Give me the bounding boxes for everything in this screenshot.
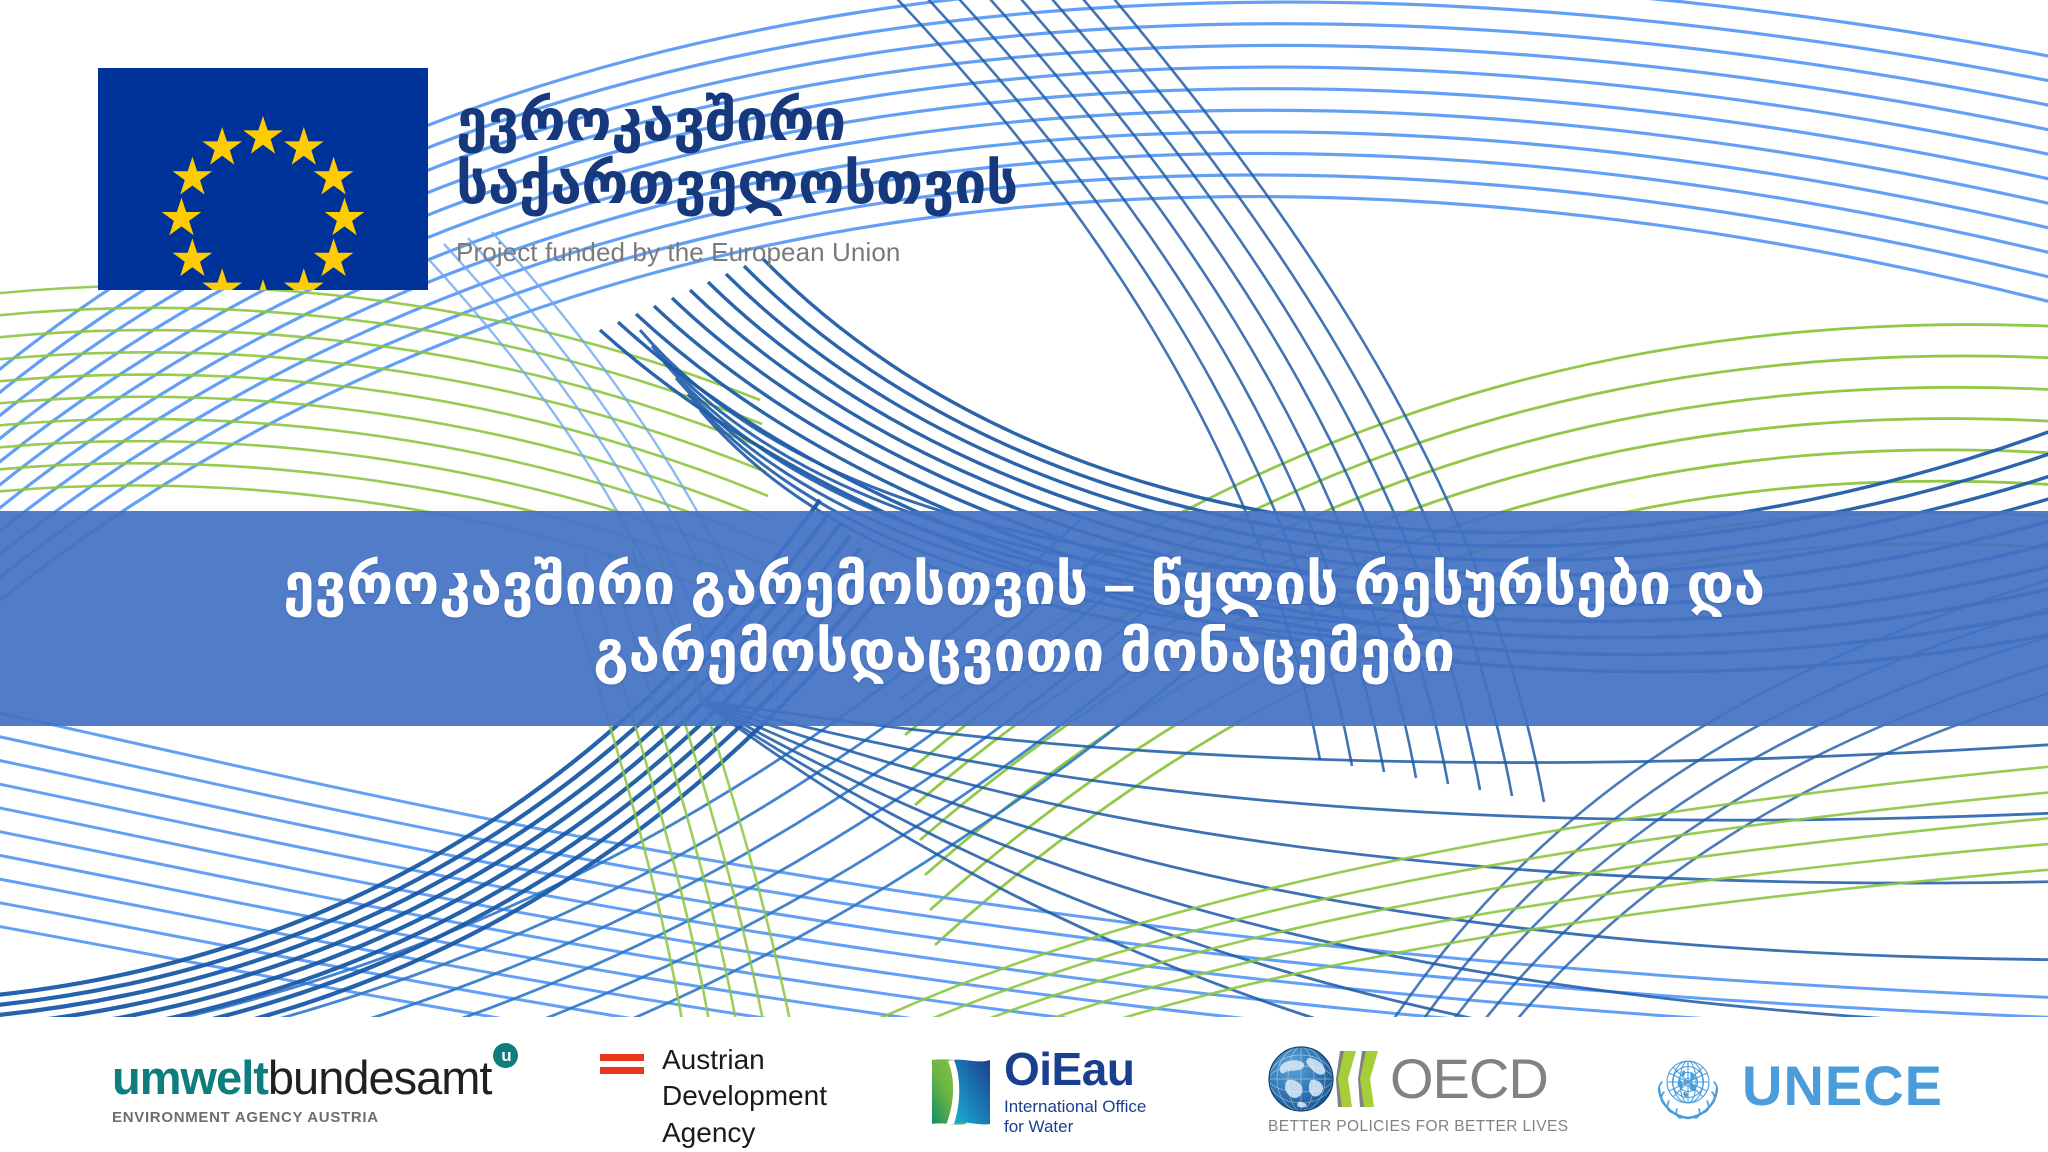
eu-logo-line-1: ევროკავშირი [456,90,1018,153]
oecd-wordmark: OECD [1390,1051,1548,1107]
logo-oecd: OECD BETTER POLICIES FOR BETTER LIVES [1268,1046,1568,1136]
ada-line-1: Austrian [662,1042,827,1078]
umweltbundesamt-word-regular: bundesamt [268,1051,492,1104]
european-union-flag-icon [98,68,428,290]
oecd-globe-icon [1268,1046,1334,1112]
eu-logo-text-block: ევროკავშირი საქართველოსთვის Project fund… [456,68,1018,268]
oieau-subtitle: International Office for Water [1004,1097,1146,1138]
umweltbundesamt-superscript-badge: u [493,1043,518,1068]
slide-title-line-2: გარემოსდაცვითი მონაცემები [283,619,1765,685]
umweltbundesamt-subtitle: ENVIRONMENT AGENCY AUSTRIA [112,1109,518,1126]
umweltbundesamt-word-bold: umwelt [112,1051,268,1104]
title-banner: ევროკავშირი გარემოსთვის – წყლის რესურსებ… [0,511,2048,726]
austria-flag-icon [600,1054,644,1074]
ada-line-2: Development [662,1078,827,1114]
united-nations-emblem-icon [1650,1048,1726,1124]
umweltbundesamt-wordmark: umweltbundesamtu [112,1054,518,1101]
oecd-chevrons-icon [1336,1049,1386,1109]
oecd-tagline: BETTER POLICIES FOR BETTER LIVES [1268,1118,1568,1136]
logo-unece: UNECE [1650,1048,1943,1124]
oieau-water-mark-icon [930,1056,992,1128]
ada-line-3: Agency [662,1115,827,1151]
logo-oieau: OiEau International Office for Water [930,1046,1146,1138]
unece-wordmark: UNECE [1742,1058,1943,1114]
logo-austrian-development-agency: Austrian Development Agency [600,1042,827,1151]
slide-title: ევროკავშირი გარემოსთვის – წყლის რესურსებ… [223,552,1825,684]
eu-logo-tagline: Project funded by the European Union [456,237,1018,268]
logo-umweltbundesamt: umweltbundesamtu ENVIRONMENT AGENCY AUST… [112,1054,518,1126]
oieau-wordmark: OiEau [1004,1046,1146,1092]
eu-logo-line-2: საქართველოსთვის [456,153,1018,216]
oieau-subtitle-line-1: International Office [1004,1097,1146,1117]
ada-wordmark: Austrian Development Agency [662,1042,827,1151]
oieau-subtitle-line-2: for Water [1004,1117,1146,1137]
presentation-slide: ევროკავშირი საქართველოსთვის Project fund… [0,0,2048,1152]
slide-title-line-1: ევროკავშირი გარემოსთვის – წყლის რესურსებ… [283,552,1765,618]
eu-funding-logo: ევროკავშირი საქართველოსთვის Project fund… [98,68,1018,290]
